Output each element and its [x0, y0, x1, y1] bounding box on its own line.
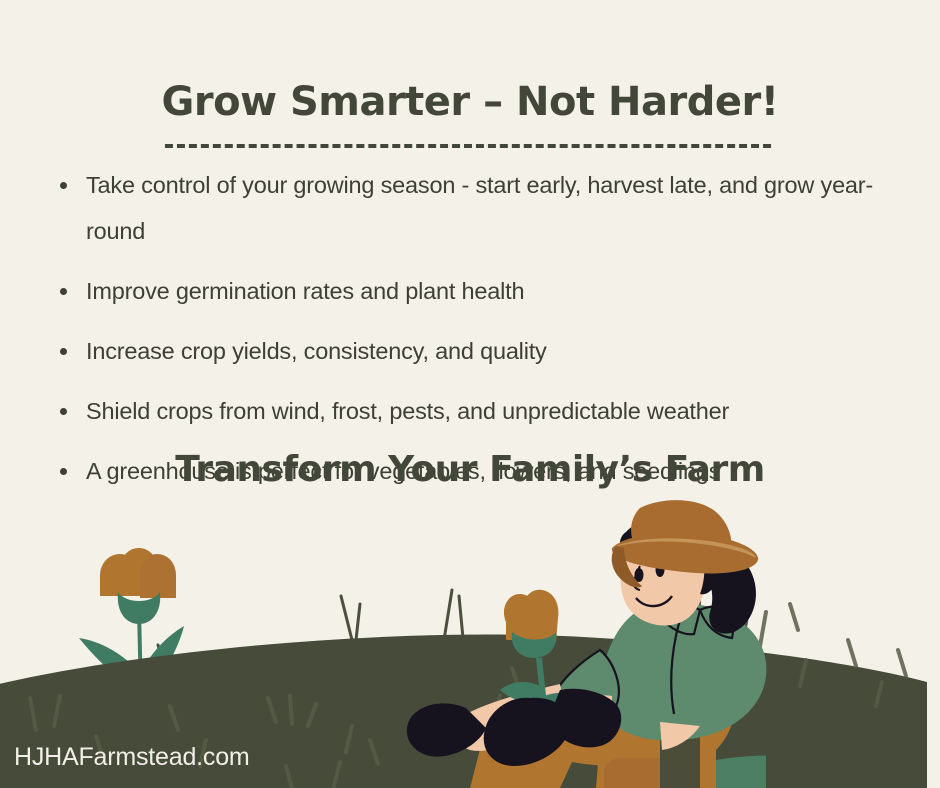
list-item-label: Increase crop yields, consistency, and q…: [86, 338, 547, 364]
list-item: Shield crops from wind, frost, pests, an…: [56, 388, 906, 434]
list-item-label: Take control of your growing season - st…: [86, 172, 873, 244]
bullet-dot-icon: [60, 288, 67, 295]
list-item: Improve germination rates and plant heal…: [56, 268, 906, 314]
list-item-label: Improve germination rates and plant heal…: [86, 278, 524, 304]
poster-canvas: Grow Smarter – Not Harder! Take control …: [0, 0, 940, 788]
list-item-label: Shield crops from wind, frost, pests, an…: [86, 398, 729, 424]
list-item: Increase crop yields, consistency, and q…: [56, 328, 906, 374]
bullet-dot-icon: [60, 348, 67, 355]
gardener-head: [612, 500, 758, 633]
bullet-dot-icon: [60, 408, 67, 415]
footer-website-url: HJHAFarmstead.com: [14, 743, 250, 772]
page-title: Grow Smarter – Not Harder!: [0, 82, 940, 122]
dashed-divider: [165, 144, 771, 148]
page-subtitle: Transform Your Family’s Farm: [0, 452, 940, 488]
list-item: Take control of your growing season - st…: [56, 162, 906, 254]
bullet-dot-icon: [60, 182, 67, 189]
